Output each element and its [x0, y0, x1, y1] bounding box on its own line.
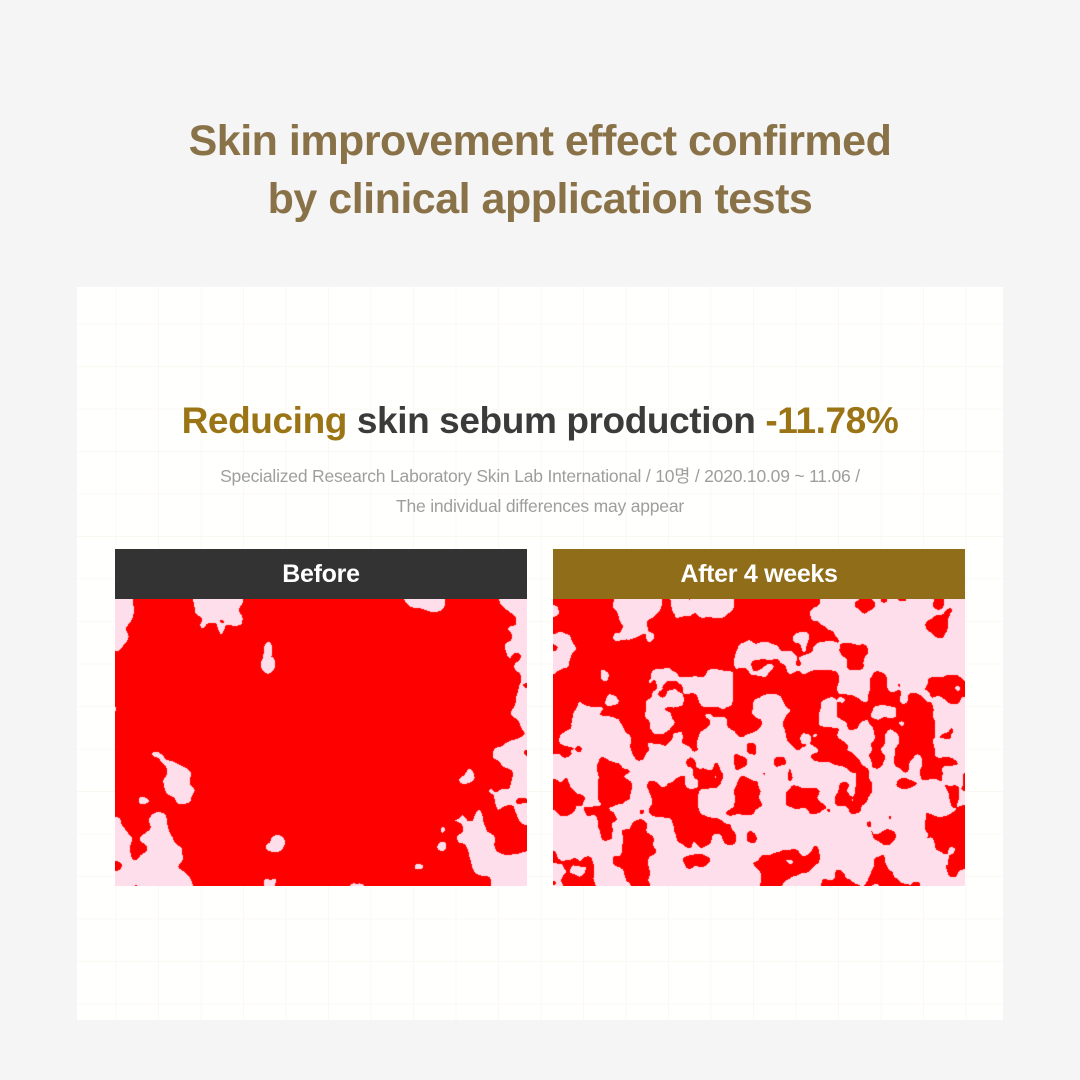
- study-disclaimer-line-2: The individual differences may appear: [77, 491, 1003, 521]
- panel-after: After 4 weeks: [553, 549, 965, 886]
- panel-before-header: Before: [115, 549, 527, 599]
- panel-after-image: [553, 599, 965, 886]
- sebum-map-after: [553, 599, 965, 886]
- before-after-comparison: Before After 4 weeks: [115, 549, 965, 886]
- clinical-result-card: Reducing skin sebum production -11.78% S…: [77, 287, 1003, 1020]
- stat-headline: Reducing skin sebum production -11.78%: [77, 398, 1003, 444]
- panel-after-label: After 4 weeks: [680, 560, 837, 589]
- panel-before-label: Before: [282, 560, 359, 589]
- page-title: Skin improvement effect confirmed by cli…: [0, 112, 1080, 228]
- stat-value: -11.78%: [765, 400, 898, 441]
- stat-description: skin sebum production: [347, 400, 765, 441]
- panel-after-header: After 4 weeks: [553, 549, 965, 599]
- study-disclaimer-line-1: Specialized Research Laboratory Skin Lab…: [77, 461, 1003, 491]
- page-title-line-2: by clinical application tests: [0, 170, 1080, 228]
- stat-accent-word: Reducing: [182, 400, 347, 441]
- panel-before-image: [115, 599, 527, 886]
- sebum-map-before: [115, 599, 527, 886]
- page-title-line-1: Skin improvement effect confirmed: [0, 112, 1080, 170]
- study-disclaimer: Specialized Research Laboratory Skin Lab…: [77, 461, 1003, 521]
- panel-before: Before: [115, 549, 527, 886]
